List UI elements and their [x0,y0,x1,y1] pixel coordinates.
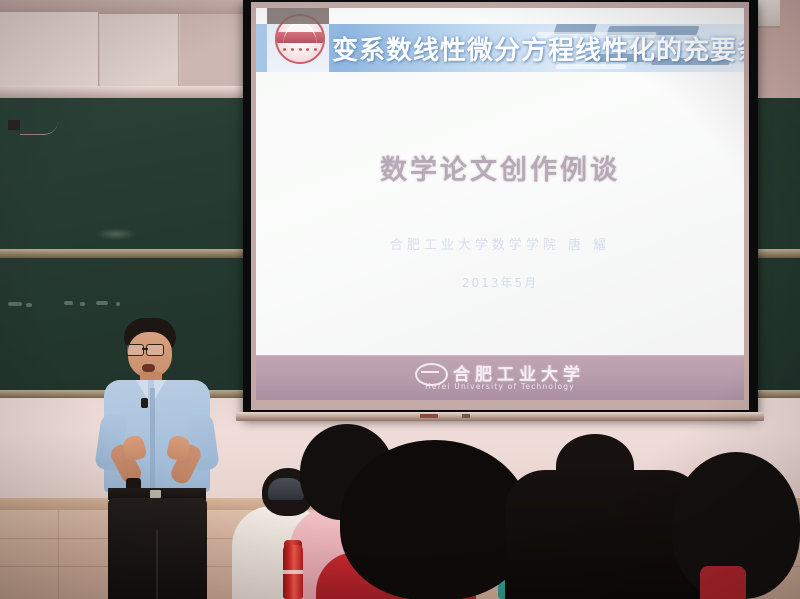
slide-subtitle: 合肥工业大学数学学院 唐 耀 [256,234,744,253]
wall-socket [8,120,20,130]
slide-main-title: 数学论文创作例谈 [256,148,744,187]
chalk-mark [64,301,73,305]
lecturer-glasses [146,344,164,356]
wall-panel [180,14,246,96]
chalk-mark [96,301,108,305]
audience-cap-icon [268,478,304,500]
lecturer-mouth [142,364,155,372]
slide-banner-title: 变系数线性微分方程线性化的充要条件 [332,30,744,67]
footer-university-name-en: Hefei University of Technology [256,382,744,391]
wall-panel [0,12,99,96]
lecturer-microphone [141,398,148,408]
slide-date: 2013年5月 [256,274,744,291]
audience-member-dark-center-head [340,440,530,599]
hfut-logo-icon [415,362,445,384]
lecturer-glasses [126,344,144,356]
wall-shelf [0,86,245,98]
lecturer [92,318,222,599]
chalk-mark [80,302,85,306]
audience-member-far-right-shirt [700,566,746,599]
presentation-slide: 变系数线性微分方程线性化的充要条件 数学论文创作例谈 合肥工业大学数学学院 唐 … [256,8,744,400]
slide-title-banner: 变系数线性微分方程线性化的充要条件 [256,24,744,72]
chalk-smudge [96,228,136,240]
screen-weight-bar [236,412,764,421]
chalk-mark [26,303,32,307]
slide-footer: 合肥工业大学 Hefei University of Technology [256,355,744,400]
wall-panel [100,14,179,96]
chalk-mark [116,302,120,306]
chalk-mark [8,302,22,306]
lecture-hall-photo: MITSUBISHI 变系数线性微分方程线性化的充要条件 数学论文创作例谈 合肥… [0,0,800,599]
hfut-emblem [267,8,329,72]
